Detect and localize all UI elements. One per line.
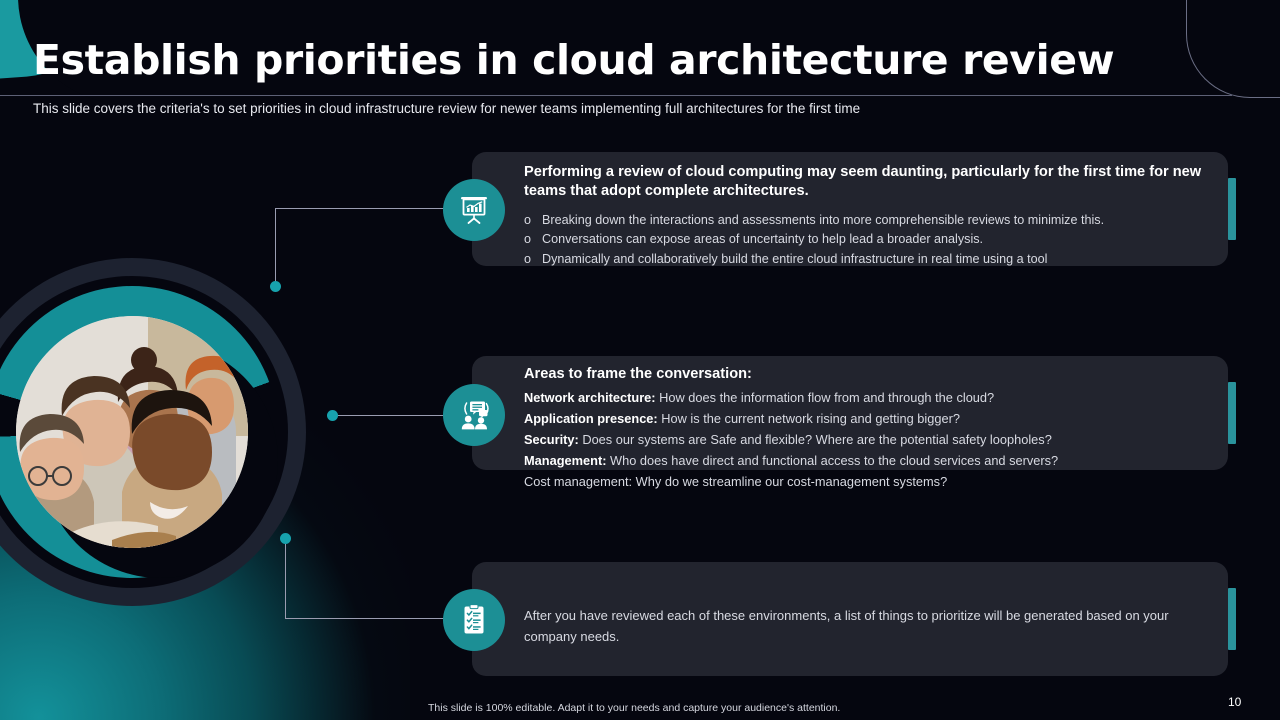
- bullet-text: Breaking down the interactions and asses…: [542, 211, 1104, 231]
- connector-3-dot: [280, 533, 291, 544]
- page-number: 10: [1228, 695, 1241, 709]
- card-2-accent-bar: [1228, 382, 1236, 444]
- card-1-accent-bar: [1228, 178, 1236, 240]
- card-2-row: Security: Does our systems are Safe and …: [524, 430, 1214, 451]
- list-item: o Conversations can expose areas of unce…: [524, 230, 1214, 250]
- team-photo-circle: [0, 258, 306, 606]
- card-2-row-label: Network architecture:: [524, 390, 656, 405]
- top-right-corner-line: [1186, 0, 1280, 98]
- card-1-heading: Performing a review of cloud computing m…: [524, 163, 1214, 202]
- presentation-chart-icon-badge[interactable]: [443, 179, 505, 241]
- connector-3-vertical: [285, 544, 286, 619]
- card-2-row-text: Who does have direct and functional acce…: [606, 453, 1058, 468]
- card-2-row-text: Cost management: Why do we streamline ou…: [524, 474, 947, 489]
- avatar: [16, 316, 248, 548]
- presentation-chart-icon: [457, 193, 491, 227]
- bullet-text: Dynamically and collaboratively build th…: [542, 250, 1047, 270]
- card-2-row-text: How is the current network rising and ge…: [658, 411, 960, 426]
- conversation-people-icon: [457, 398, 491, 432]
- content-card-3[interactable]: After you have reviewed each of these en…: [472, 562, 1228, 676]
- footer-note: This slide is 100% editable. Adapt it to…: [428, 702, 840, 714]
- page-title: Establish priorities in cloud architectu…: [33, 36, 1114, 84]
- card-2-row: Management: Who does have direct and fun…: [524, 451, 1214, 472]
- page-subtitle: This slide covers the criteria's to set …: [33, 101, 860, 116]
- card-2-row: Application presence: How is the current…: [524, 409, 1214, 430]
- checklist-clipboard-icon: [457, 603, 491, 637]
- bullet-marker: o: [524, 250, 542, 270]
- card-2-row: Network architecture: How does the infor…: [524, 388, 1214, 409]
- card-2-row-label: Management:: [524, 453, 606, 468]
- list-item: o Dynamically and collaboratively build …: [524, 250, 1214, 270]
- card-2-row: Cost management: Why do we streamline ou…: [524, 472, 1214, 493]
- conversation-people-icon-badge[interactable]: [443, 384, 505, 446]
- card-2-row-text: How does the information flow from and t…: [656, 390, 995, 405]
- card-2-row-text: Does our systems are Safe and flexible? …: [579, 432, 1052, 447]
- connector-1-dot: [270, 281, 281, 292]
- bullet-marker: o: [524, 211, 542, 231]
- list-item: o Breaking down the interactions and ass…: [524, 211, 1214, 231]
- card-2-row-label: Security:: [524, 432, 579, 447]
- card-3-accent-bar: [1228, 588, 1236, 650]
- content-card-1[interactable]: Performing a review of cloud computing m…: [472, 152, 1228, 266]
- bullet-text: Conversations can expose areas of uncert…: [542, 230, 983, 250]
- content-card-2[interactable]: Areas to frame the conversation: Network…: [472, 356, 1228, 470]
- checklist-clipboard-icon-badge[interactable]: [443, 589, 505, 651]
- bullet-marker: o: [524, 230, 542, 250]
- header-divider: [0, 95, 1232, 96]
- card-3-body: After you have reviewed each of these en…: [524, 606, 1174, 647]
- connector-2-dot: [327, 410, 338, 421]
- card-1-bullet-list: o Breaking down the interactions and ass…: [524, 211, 1214, 271]
- connector-1-vertical: [275, 208, 276, 286]
- card-2-row-label: Application presence:: [524, 411, 658, 426]
- card-2-heading: Areas to frame the conversation:: [524, 365, 1214, 384]
